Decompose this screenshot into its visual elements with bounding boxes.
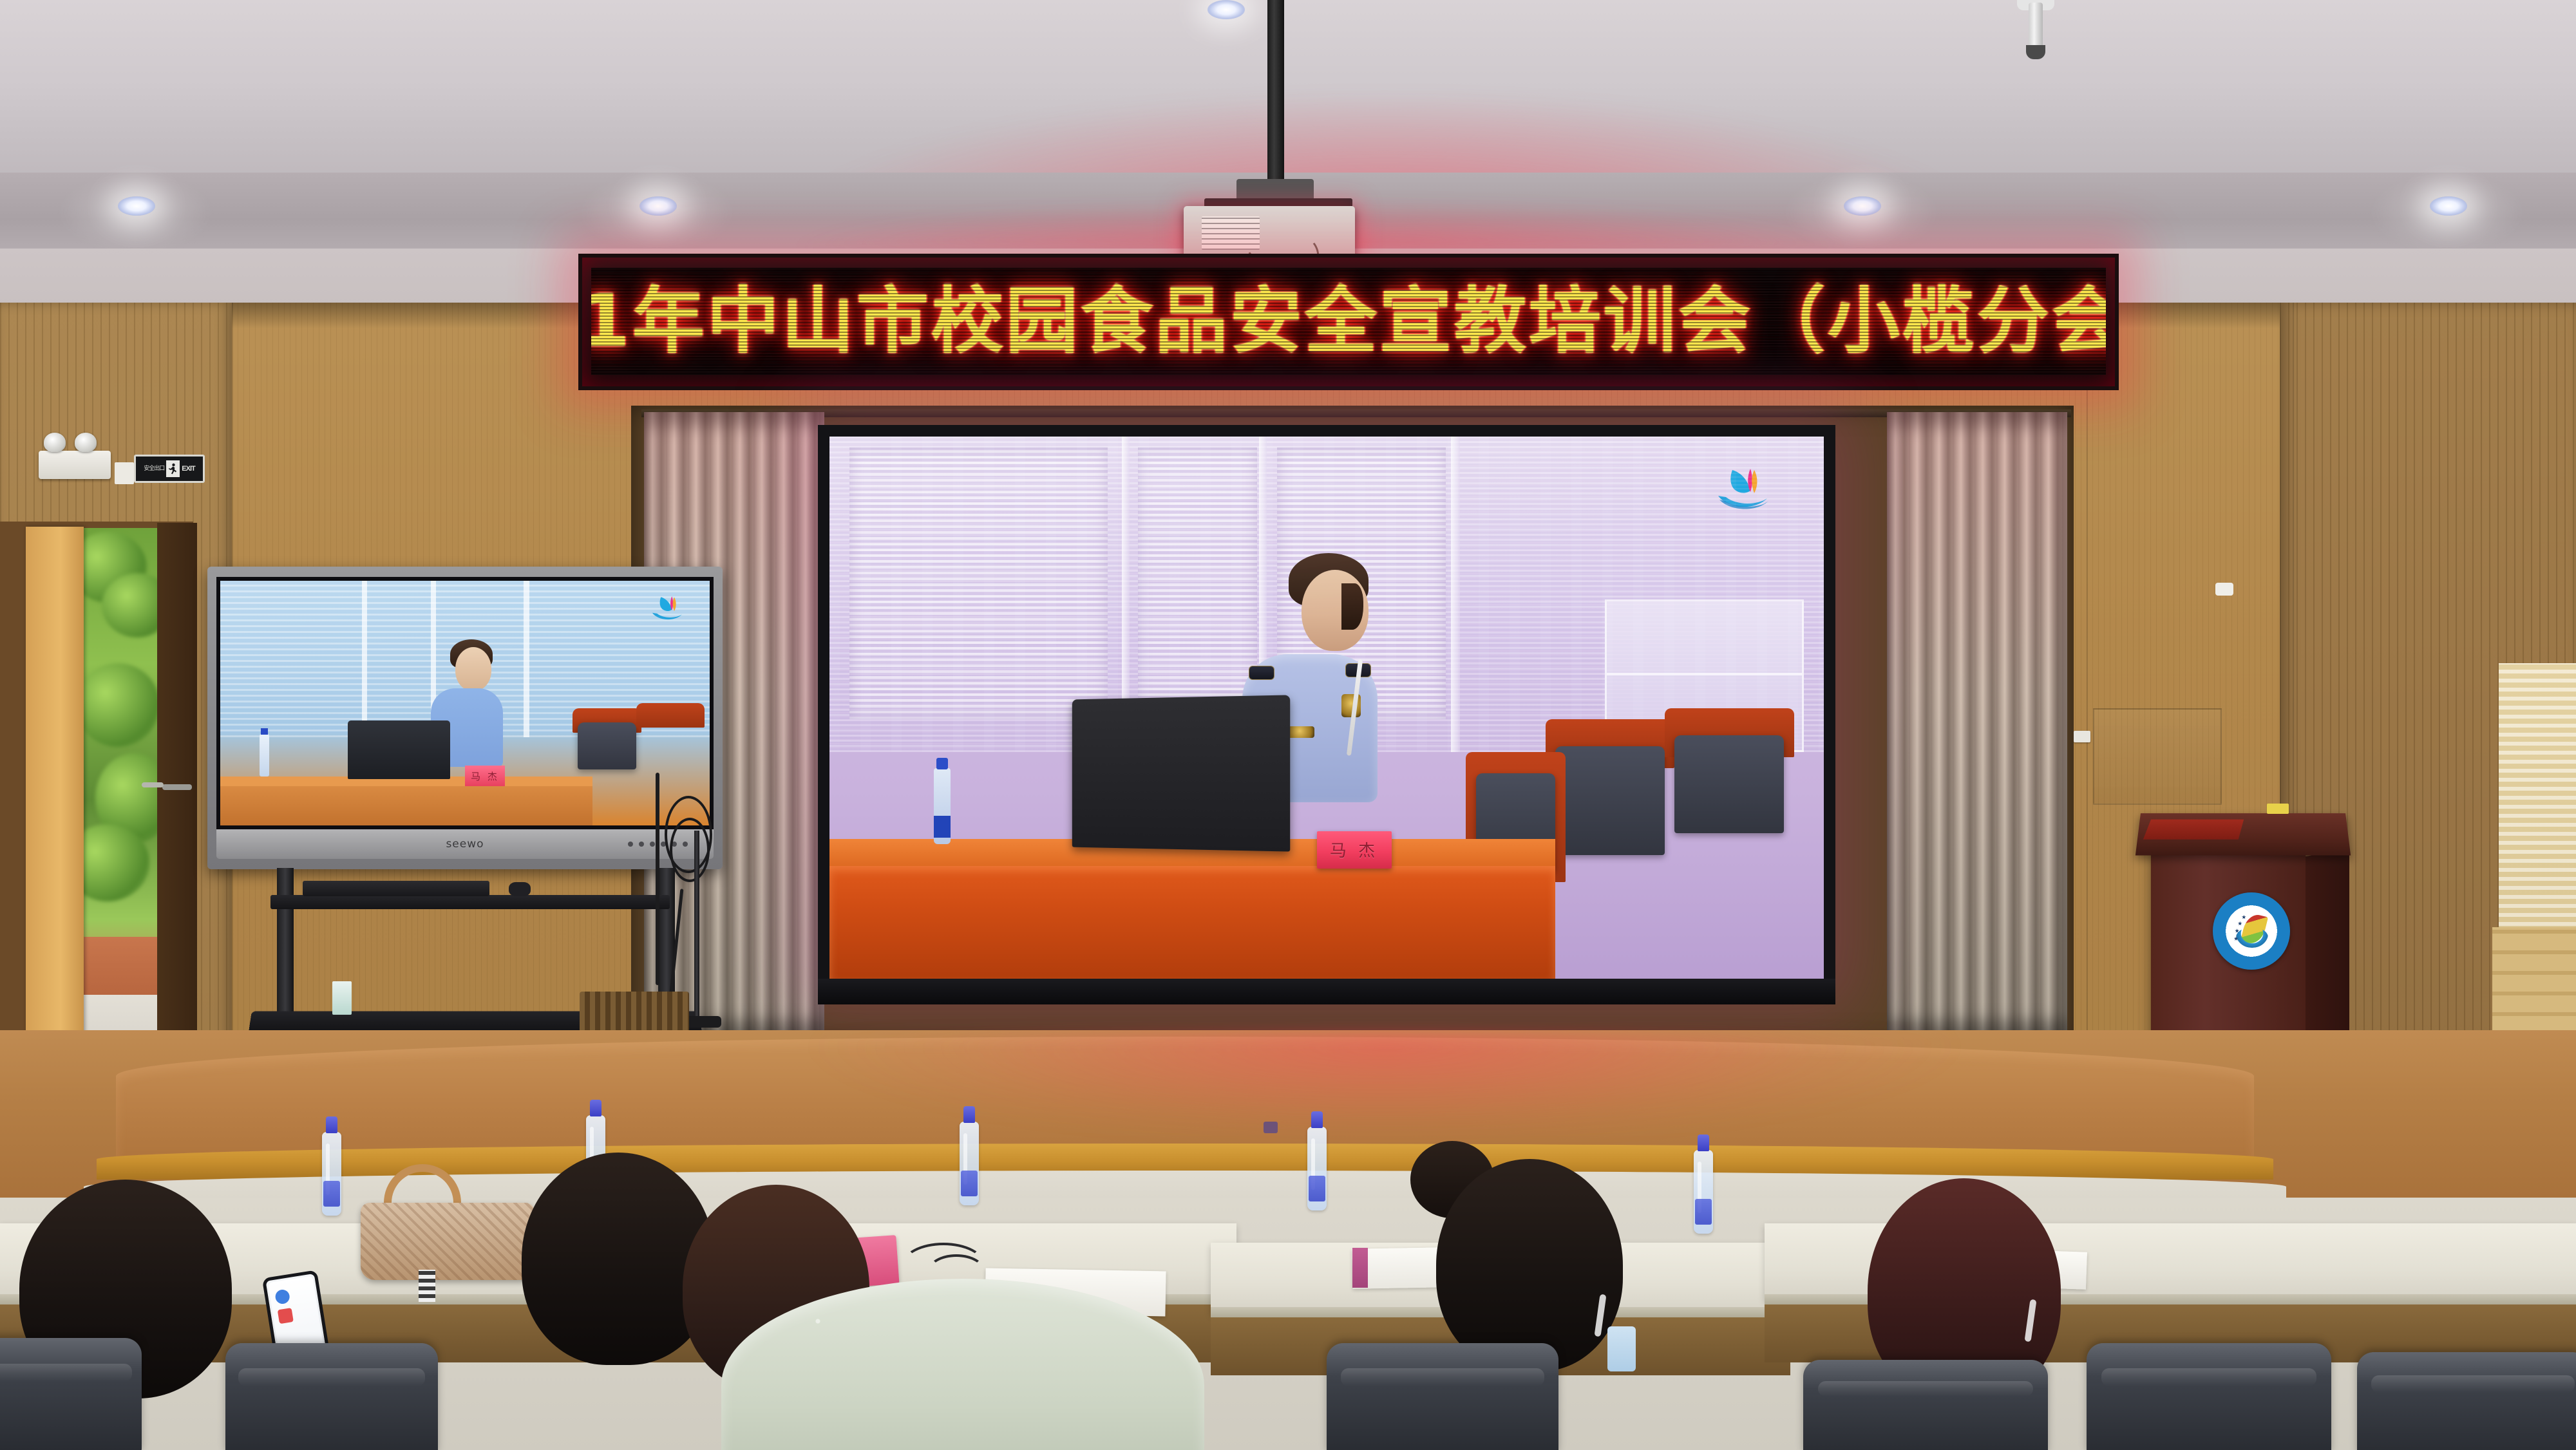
led-video-wall[interactable]: 马 杰	[818, 425, 1835, 992]
podium-yellow-marker	[2267, 804, 2289, 814]
curtain-rod	[641, 410, 2071, 417]
keyboard[interactable]	[303, 881, 489, 896]
door-handle[interactable]	[162, 784, 192, 790]
seewo-bottom-bezel: seewo	[216, 829, 714, 859]
auditorium-scene: 安全出口 EXIT 2021年中山市校园食品安全宣教培训会（小榄分会场）	[0, 0, 2576, 1450]
seewo-button[interactable]	[639, 842, 644, 847]
seewo-brand-label: seewo	[446, 838, 484, 851]
stage-debris	[1264, 1122, 1278, 1133]
uniform-epaulet	[1249, 666, 1274, 680]
water-bottle[interactable]	[322, 1132, 341, 1216]
projector-mount-rod	[1267, 0, 1284, 184]
downlight-2	[639, 196, 677, 216]
audience-chair	[2087, 1343, 2331, 1450]
projector-mount-bracket	[1236, 179, 1314, 201]
video-desk-front	[829, 866, 1555, 980]
audience-chair	[1327, 1343, 1558, 1450]
small-product-box	[332, 981, 352, 1015]
seewo-interactive-display[interactable]: 马 杰 seewo	[207, 567, 723, 869]
seewo-panel: 马 杰	[216, 577, 714, 829]
panel-seam	[2087, 303, 2088, 1140]
ceiling-sprinkler-head	[2029, 3, 2043, 54]
app-icon[interactable]	[274, 1288, 290, 1304]
led-banner-housing: 2021年中山市校园食品安全宣教培训会（小榄分会场）	[578, 254, 2119, 390]
water-bottle[interactable]	[1307, 1127, 1327, 1210]
microphone-stand	[694, 831, 699, 1024]
door-leaf-open[interactable]	[26, 527, 84, 1077]
book-sail-logo	[649, 593, 685, 624]
seewo-window-mullion	[362, 581, 367, 737]
water-bottle[interactable]	[960, 1122, 979, 1205]
cable	[656, 773, 659, 985]
cart-post-left	[277, 868, 294, 1022]
notebook-spine	[1352, 1248, 1368, 1288]
emergency-lamp-head	[44, 433, 66, 452]
ceiling-red-glow	[676, 0, 2093, 193]
video-chair	[1555, 746, 1665, 855]
video-speaker-hair	[1341, 583, 1363, 630]
video-nameplate-text: 马 杰	[1330, 838, 1378, 862]
audience-chair	[2357, 1352, 2576, 1450]
emblem-inner-disc	[2227, 907, 2276, 956]
exit-sign-junction-box	[115, 462, 134, 484]
led-banner-text: 2021年中山市校园食品安全宣教培训会（小榄分会场）	[591, 283, 2106, 360]
downlight-3	[1207, 0, 1245, 19]
downlight-4	[1844, 196, 1881, 216]
door-leaf-closed[interactable]	[157, 523, 197, 1080]
running-person-icon	[166, 460, 180, 477]
audience-person-head	[1436, 1159, 1623, 1371]
video-laptop	[1072, 695, 1289, 852]
video-chair	[1674, 735, 1784, 833]
wall-light-switch[interactable]	[2074, 731, 2090, 742]
exit-sign-english-label: EXIT	[182, 465, 194, 473]
emblem-swoosh-graphic	[2236, 927, 2268, 948]
downlight-5	[2430, 196, 2467, 216]
seewo-window-mullion	[524, 581, 529, 737]
seewo-video-content: 马 杰	[220, 581, 710, 825]
emergency-lamp-head	[75, 433, 97, 452]
app-icon[interactable]	[278, 1308, 294, 1324]
seewo-desk-front	[220, 786, 592, 825]
seewo-video-chair	[636, 703, 705, 728]
seewo-button[interactable]	[650, 842, 655, 847]
seewo-water-bottle	[260, 734, 269, 777]
led-banner-screen: 2021年中山市校园食品安全宣教培训会（小榄分会场）	[591, 268, 2106, 375]
seewo-video-chair	[578, 722, 636, 769]
audience-chair	[225, 1343, 438, 1450]
seewo-laptop	[348, 720, 451, 779]
twin-head-emergency-light	[39, 451, 111, 479]
exit-sign: 安全出口 EXIT	[134, 455, 205, 483]
school-crest-emblem	[2213, 892, 2290, 970]
outside-brick-wall	[82, 937, 157, 995]
handbag-tag	[419, 1270, 435, 1302]
audience-chair	[1803, 1360, 2048, 1450]
emblem-star	[2242, 915, 2246, 919]
wall-sensor	[2215, 583, 2233, 596]
seewo-nameplate: 马 杰	[465, 766, 505, 786]
seewo-button[interactable]	[628, 842, 633, 847]
handbag[interactable]	[361, 1203, 535, 1280]
seewo-nameplate-text: 马 杰	[471, 769, 499, 783]
curtain-red-wash	[1887, 412, 2067, 1031]
seewo-speaker-head	[455, 647, 491, 691]
door-handle[interactable]	[142, 782, 164, 787]
downlight-1	[118, 196, 155, 216]
mouse[interactable]	[509, 882, 531, 896]
outside-view	[82, 528, 157, 1072]
video-nameplate: 马 杰	[1317, 831, 1392, 869]
cart-shelf	[270, 895, 670, 909]
led-video-wall-bottom-bezel	[818, 979, 1835, 1004]
wall-access-hatch	[2093, 708, 2222, 805]
audience-chair	[0, 1338, 142, 1450]
foliage	[82, 663, 157, 747]
podium-red-surface	[2143, 820, 2244, 840]
face-mask	[1607, 1326, 1636, 1371]
video-water-bottle	[934, 768, 951, 844]
coiled-cable	[670, 818, 710, 882]
water-bottle[interactable]	[1694, 1150, 1713, 1234]
led-video-wall-content: 马 杰	[829, 437, 1824, 980]
emblem-star	[2238, 921, 2242, 926]
exit-sign-chinese-label: 安全出口	[144, 466, 164, 472]
stage-curtain-right	[1887, 412, 2067, 1031]
